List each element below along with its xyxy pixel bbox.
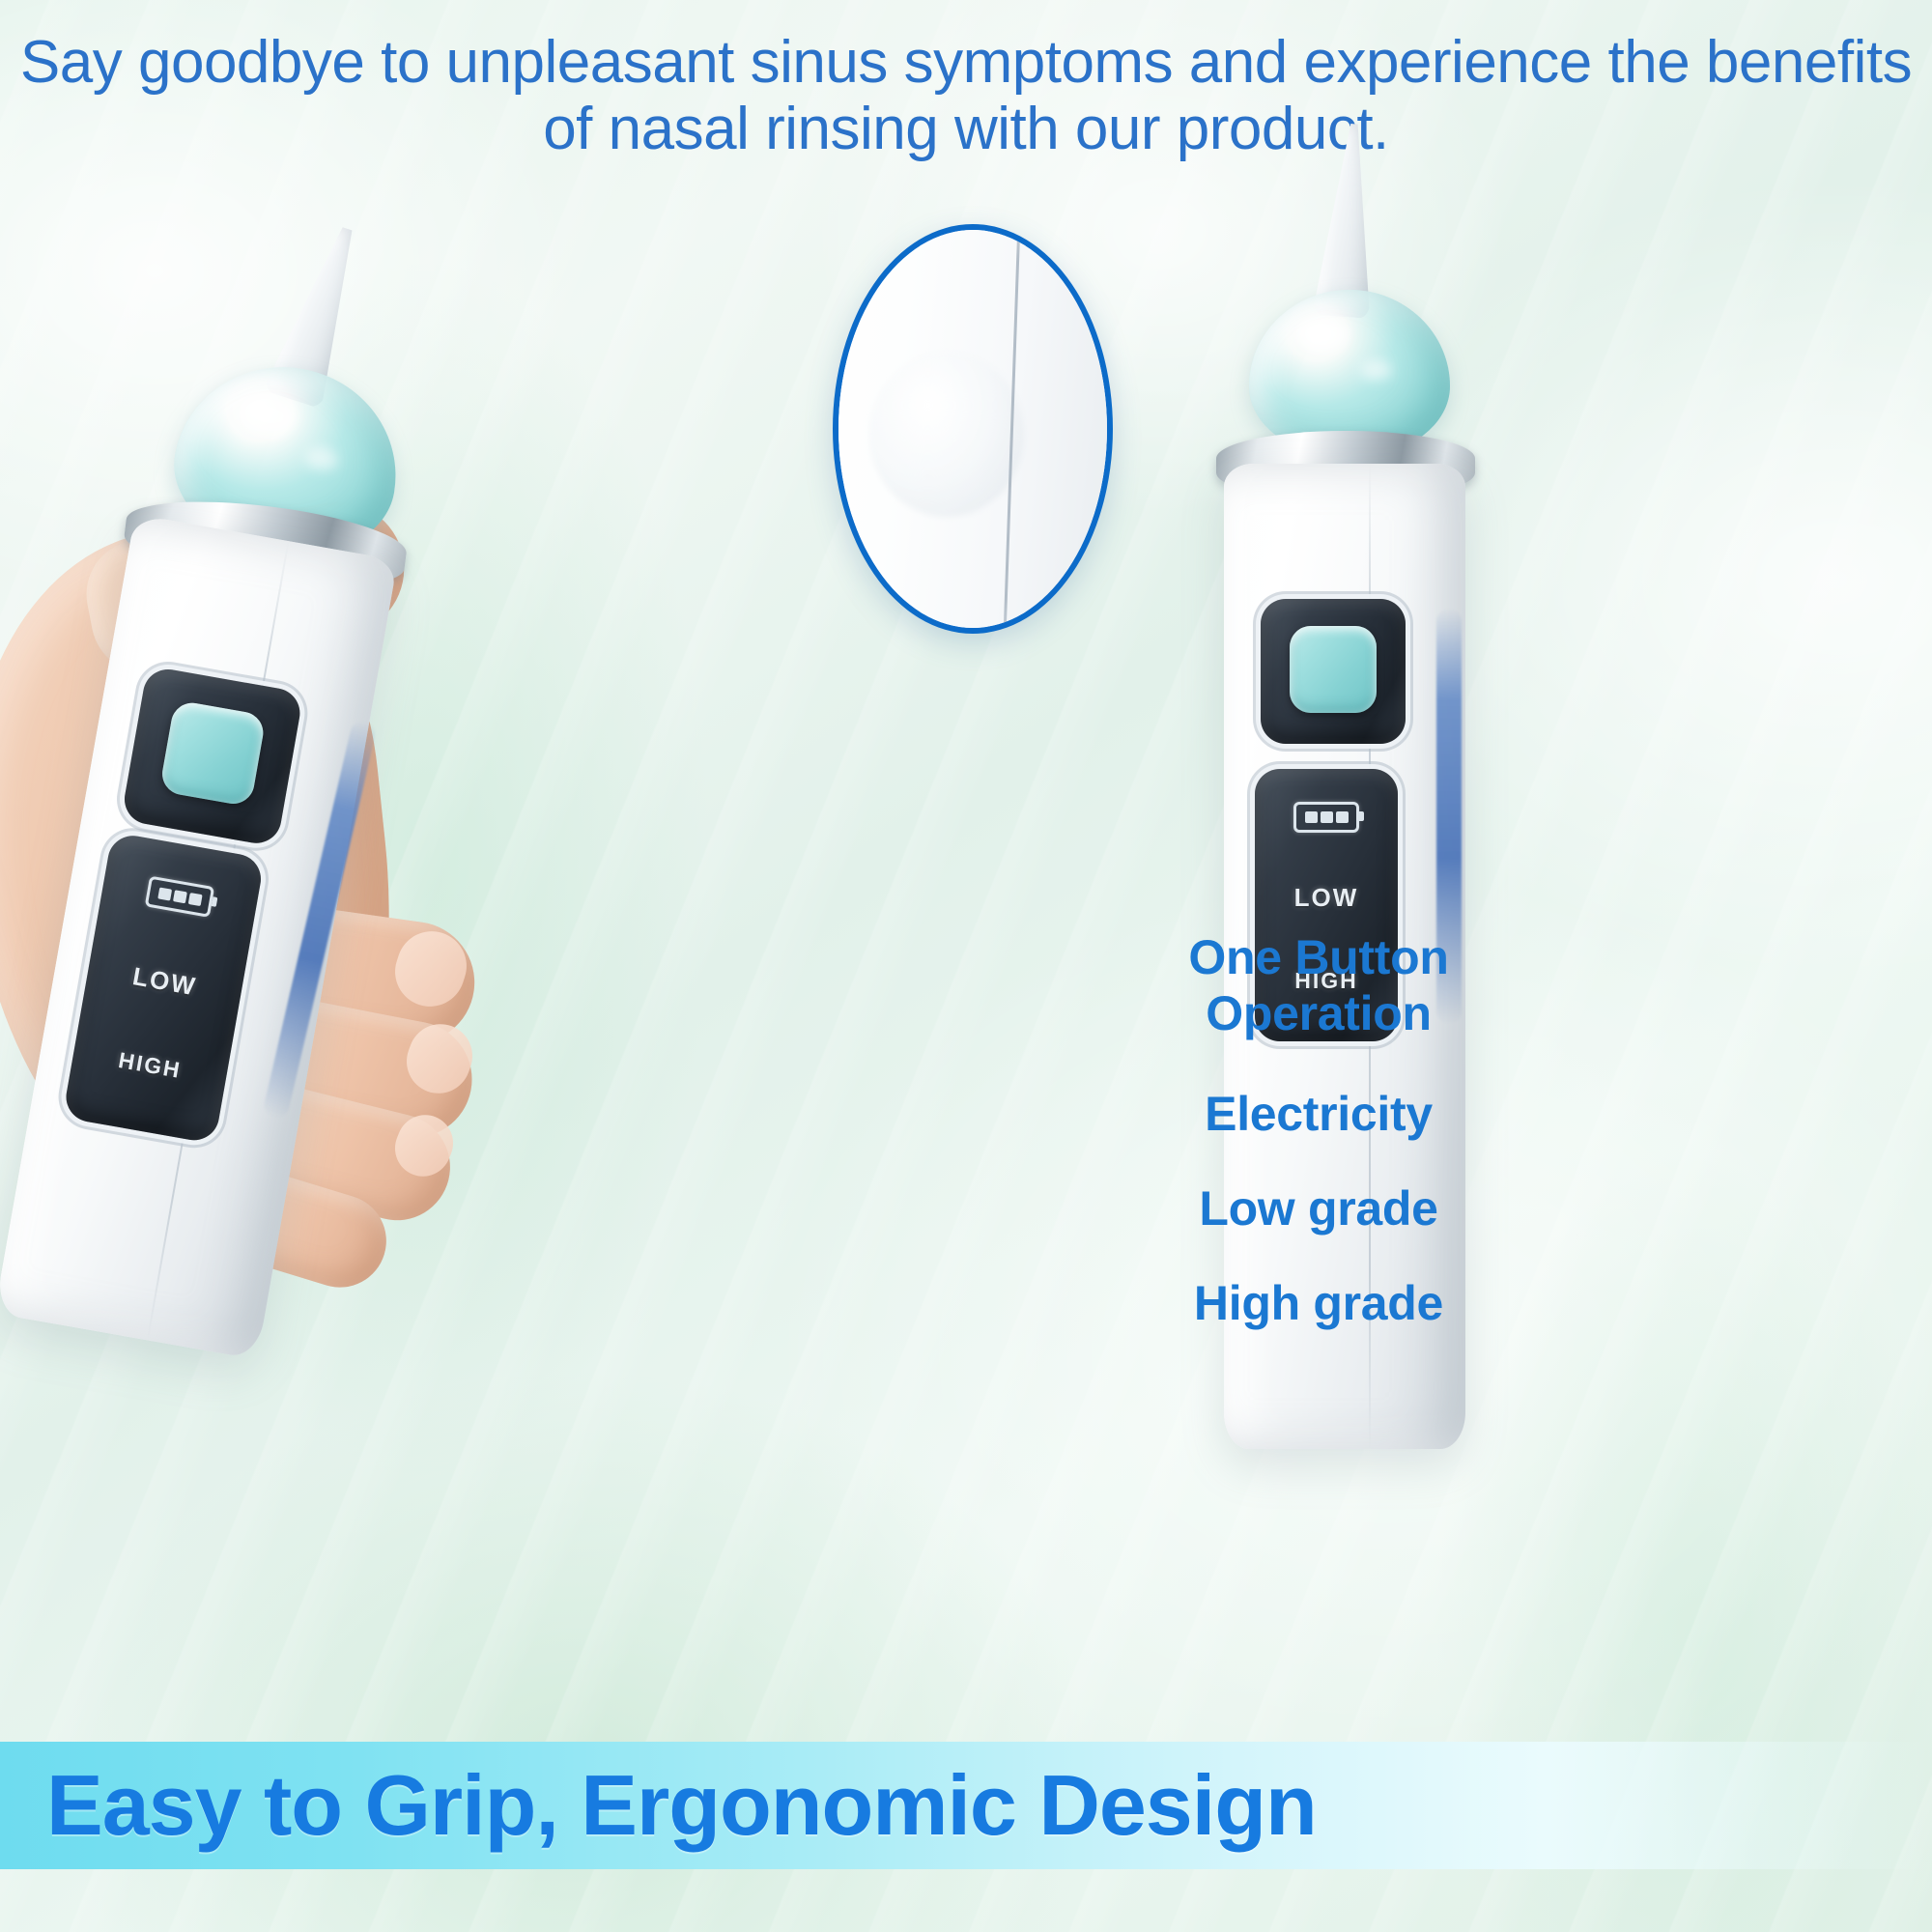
feature-electricity: Electricity (1130, 1086, 1507, 1142)
battery-icon (1293, 802, 1359, 833)
power-panel (121, 666, 304, 847)
feature-operation: Operation (1130, 985, 1507, 1041)
feature-high-grade: High grade (1130, 1275, 1507, 1331)
indicator-label-low: LOW (86, 953, 243, 1009)
indicator-label-high: HIGH (71, 1039, 228, 1092)
power-button[interactable] (159, 699, 267, 807)
battery-icon (145, 876, 215, 918)
product-marketing-image: Say goodbye to unpleasant sinus symptoms… (0, 0, 1932, 1932)
magnifier-content (833, 224, 1113, 634)
feature-list: One Button Operation Electricity Low gra… (1130, 929, 1507, 1331)
banner-text: Easy to Grip, Ergonomic Design (0, 1763, 1317, 1848)
feature-one-button: One Button (1130, 929, 1507, 985)
bulb-highlight (1297, 317, 1348, 352)
feature-low-grade: Low grade (1130, 1180, 1507, 1236)
grip-bump-detail (869, 353, 1024, 517)
bulb-highlight (239, 392, 298, 438)
indicator-label-low: LOW (1255, 883, 1398, 913)
power-button[interactable] (1290, 626, 1377, 713)
power-panel (1261, 599, 1406, 744)
magnifier-callout (833, 224, 1113, 634)
bottom-banner: Easy to Grip, Ergonomic Design (0, 1742, 1932, 1869)
headline-line-2: of nasal rinsing with our product. (0, 96, 1932, 162)
bulb-highlight (303, 444, 340, 473)
headline: Say goodbye to unpleasant sinus symptoms… (0, 29, 1932, 163)
bulb-highlight (1361, 359, 1392, 381)
headline-line-1: Say goodbye to unpleasant sinus symptoms… (0, 29, 1932, 96)
